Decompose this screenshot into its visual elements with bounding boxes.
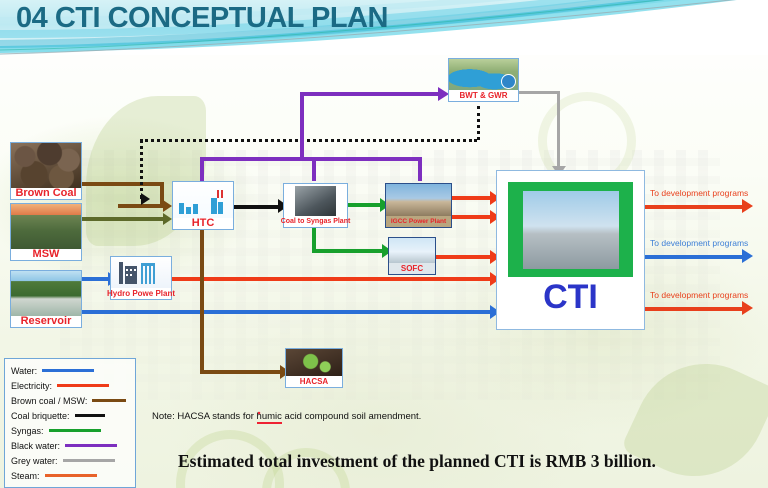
legend-label: Steam: xyxy=(11,471,40,481)
legend-swatch-electricity xyxy=(57,384,109,387)
slide-header: 04 CTI CONCEPTUAL PLAN xyxy=(0,0,768,55)
cti-green-panel xyxy=(508,182,633,277)
line-reservoir-to-hydro xyxy=(82,277,110,281)
sofc-photo xyxy=(389,238,435,263)
legend-label: Electricity: xyxy=(11,381,52,391)
igcc-photo xyxy=(386,184,451,216)
line-blackwater-syngas-riser xyxy=(312,157,316,181)
node-htc[interactable]: HTC xyxy=(172,181,234,230)
line-output-2 xyxy=(643,255,746,259)
legend-label: Water: xyxy=(11,366,37,376)
legend-swatch-coal-briquette xyxy=(75,414,105,417)
note-highlight: humic xyxy=(257,411,282,424)
legend-swatch-water xyxy=(42,369,94,372)
arrowhead-output-3 xyxy=(742,301,753,315)
legend-item: Steam: xyxy=(11,468,129,483)
arrowhead-output-1 xyxy=(742,199,753,213)
hydro-icon-shapes xyxy=(111,257,171,288)
legend-item: Black water: xyxy=(11,438,129,453)
line-htc-to-syngas xyxy=(234,205,280,209)
node-bwt-gwr[interactable]: BWT & GWR xyxy=(448,58,519,102)
line-htc-to-hacsa-horiz xyxy=(200,370,284,374)
recycle-icon xyxy=(501,74,516,89)
legend-item: Water: xyxy=(11,363,129,378)
legend-item: Electricity: xyxy=(11,378,129,393)
line-blackwater-main-vert xyxy=(300,92,304,160)
legend-label: Brown coal / MSW: xyxy=(11,396,87,406)
line-blackwater-igcc-riser xyxy=(418,157,422,181)
node-label: MSW xyxy=(33,249,60,260)
note-suffix: acid compound soil amendment. xyxy=(282,411,421,422)
node-label: HTC xyxy=(192,218,215,229)
arrowhead-output-2 xyxy=(742,249,753,263)
htc-icon-shapes xyxy=(173,182,233,218)
legend-item: Brown coal / MSW: xyxy=(11,393,129,408)
note-prefix: Note: HACSA stands for xyxy=(152,411,257,422)
line-dotted-briquette-vert-right xyxy=(477,106,480,140)
output-label-3: To development programs xyxy=(650,290,748,300)
legend-label: Black water: xyxy=(11,441,60,451)
node-cti[interactable]: CTI xyxy=(496,170,645,330)
node-label: HACSA xyxy=(300,376,328,387)
legend-item: Coal briquette: xyxy=(11,408,129,423)
line-msw-to-htc xyxy=(82,217,164,221)
legend-swatch-grey-water xyxy=(63,459,115,462)
line-greywater-horiz xyxy=(519,91,560,94)
node-label: Coal to Syngas Plant xyxy=(281,216,351,227)
arrowhead-browncoal-htc xyxy=(163,200,172,212)
line-syngas-to-igcc xyxy=(348,203,382,207)
legend-item: Grey water: xyxy=(11,453,129,468)
slide-canvas: 04 CTI CONCEPTUAL PLAN xyxy=(0,0,768,488)
legend-label: Coal briquette: xyxy=(11,411,70,421)
node-brown-coal[interactable]: Brown Coal xyxy=(10,142,82,200)
line-sofc-electricity xyxy=(436,255,496,259)
msw-photo xyxy=(11,204,81,249)
arrowhead-dotted-briquette-htc xyxy=(141,193,150,205)
legend-swatch-black-water xyxy=(65,444,117,447)
node-label: BWT & GWR xyxy=(460,90,508,101)
node-reservoir[interactable]: Reservoir xyxy=(10,270,82,328)
node-label: SOFC xyxy=(389,263,435,274)
node-hacsa[interactable]: HACSA xyxy=(285,348,343,388)
line-syngas-to-sofc xyxy=(312,249,384,253)
node-coal-to-syngas-plant[interactable]: Coal to Syngas Plant xyxy=(283,183,348,228)
note-text: Note: HACSA stands for humic acid compou… xyxy=(152,411,421,422)
reservoir-photo xyxy=(11,271,81,316)
node-igcc-power-plant[interactable]: IGCC Power Plant xyxy=(385,183,452,228)
line-dotted-briquette-vert-left xyxy=(140,139,143,199)
node-label: IGCC Power Plant xyxy=(386,216,451,227)
node-sofc[interactable]: SOFC xyxy=(388,237,436,275)
hydro-power-plant-icon xyxy=(111,257,171,288)
output-label-2: To development programs xyxy=(650,238,748,248)
line-output-1 xyxy=(643,205,746,209)
line-output-3 xyxy=(643,307,746,311)
line-blackwater-bus xyxy=(200,157,422,161)
hacsa-photo xyxy=(286,349,342,376)
legend-swatch-steam xyxy=(45,474,97,477)
cti-plant-photo xyxy=(523,191,619,269)
node-msw[interactable]: MSW xyxy=(10,203,82,261)
line-hydro-electricity-to-cti xyxy=(172,277,496,281)
line-greywater-vert xyxy=(557,91,560,169)
legend: Water: Electricity: Brown coal / MSW: Co… xyxy=(4,358,136,488)
coal-to-syngas-photo xyxy=(295,186,336,216)
line-blackwater-main-horiz xyxy=(300,92,442,96)
page-title: 04 CTI CONCEPTUAL PLAN xyxy=(16,2,388,35)
legend-item: Syngas: xyxy=(11,423,129,438)
legend-label: Syngas: xyxy=(11,426,44,436)
output-label-1: To development programs xyxy=(650,188,748,198)
line-htc-to-hacsa-vert xyxy=(200,230,204,374)
line-browncoal-to-htc xyxy=(82,182,164,186)
node-hydro-power-plant[interactable]: Hydro Powe Plant xyxy=(110,256,172,300)
legend-swatch-syngas xyxy=(49,429,101,432)
line-blackwater-htc-riser xyxy=(200,157,204,181)
htc-icon xyxy=(173,182,233,218)
node-label: Reservoir xyxy=(21,316,72,327)
arrowhead-msw-htc xyxy=(163,213,172,225)
cti-label: CTI xyxy=(543,277,598,317)
legend-swatch-brown-coal xyxy=(92,399,126,402)
node-label: Hydro Powe Plant xyxy=(107,288,175,299)
legend-label: Grey water: xyxy=(11,456,58,466)
investment-caption: Estimated total investment of the planne… xyxy=(178,451,656,472)
line-reservoir-water-to-cti xyxy=(82,310,496,314)
node-label: Brown Coal xyxy=(15,188,76,199)
brown-coal-photo xyxy=(11,143,81,188)
line-dotted-briquette-horiz xyxy=(140,139,477,142)
